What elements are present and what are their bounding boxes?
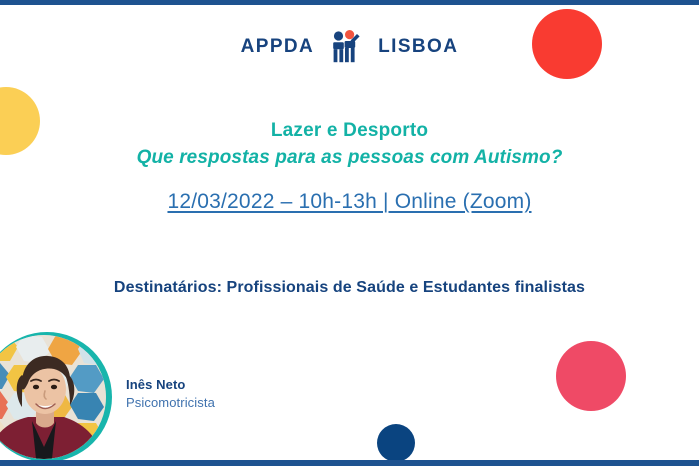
event-poster: APPDA LISBOA Lazer e Desporto <box>0 0 699 466</box>
headline-block: Lazer e Desporto Que respostas para as p… <box>0 119 699 170</box>
decorative-circle-pink <box>556 341 626 411</box>
logo-word-appda: APPDA <box>241 37 315 56</box>
target-audience-block: Destinatários: Profissionais de Saúde e … <box>0 279 699 297</box>
speaker-info: Inês Neto Psicomotricista <box>126 376 215 417</box>
avatar-wrap <box>0 332 112 462</box>
bottom-rule <box>0 460 699 466</box>
target-audience-text: Destinatários: Profissionais de Saúde e … <box>114 279 585 296</box>
headline-title: Lazer e Desporto <box>0 119 699 143</box>
appda-lisboa-logo: APPDA LISBOA <box>0 26 699 66</box>
speaker-name: Inês Neto <box>126 376 215 394</box>
two-people-figures-icon <box>324 26 368 66</box>
speaker-block: Inês Neto Psicomotricista <box>0 332 215 462</box>
decorative-circle-navy <box>377 424 415 462</box>
event-datetime-text: 12/03/2022 – 10h-13h | Online (Zoom) <box>167 190 531 214</box>
headline-subtitle: Que respostas para as pessoas com Autism… <box>0 146 699 171</box>
top-rule <box>0 0 699 5</box>
logo-word-lisboa: LISBOA <box>378 37 458 56</box>
speaker-role: Psicomotricista <box>126 394 215 412</box>
event-datetime-block: 12/03/2022 – 10h-13h | Online (Zoom) <box>0 190 699 214</box>
